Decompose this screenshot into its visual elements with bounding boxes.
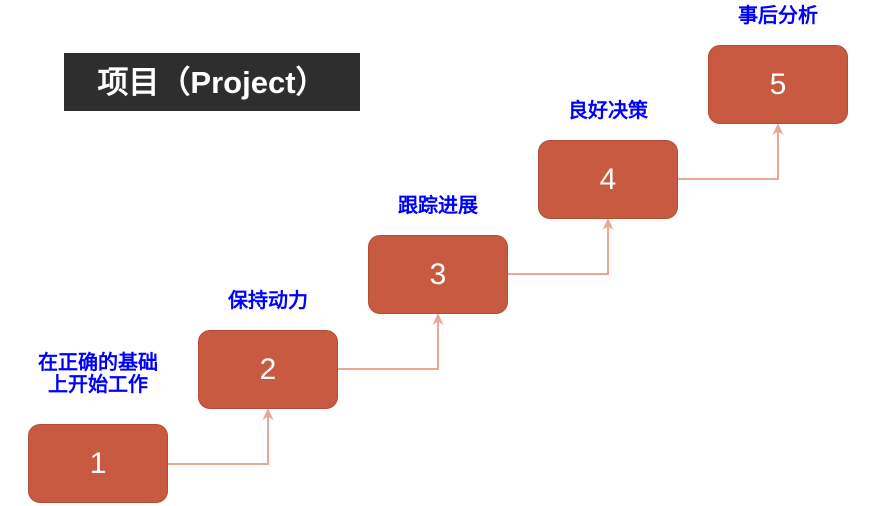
connector-step1-to-step2 — [168, 404, 276, 472]
step-number-1: 1 — [90, 449, 107, 479]
step-label-5: 事后分析 — [708, 5, 848, 27]
connector-step2-to-step3 — [338, 309, 446, 377]
connector-step3-to-step4 — [508, 214, 616, 282]
connector-step4-to-step5 — [678, 119, 786, 187]
step-label-2: 保持动力 — [198, 290, 338, 312]
step-number-3: 3 — [430, 260, 447, 290]
step-box-5[interactable]: 5 — [708, 45, 848, 124]
step-label-1: 在正确的基础 上开始工作 — [6, 352, 190, 397]
page-title-banner: 项目（Project） — [64, 53, 360, 111]
step-box-1[interactable]: 1 — [28, 424, 168, 503]
step-box-2[interactable]: 2 — [198, 330, 338, 409]
page-title: 项目（Project） — [97, 67, 326, 98]
step-label-3: 跟踪进展 — [368, 195, 508, 217]
step-number-2: 2 — [260, 355, 277, 385]
step-number-5: 5 — [770, 70, 787, 100]
slide-canvas: 项目（Project） 在正确的基础 上开始工作 1 保持动力 — [0, 0, 869, 506]
step-box-4[interactable]: 4 — [538, 140, 678, 219]
step-label-4: 良好决策 — [538, 100, 678, 122]
step-box-3[interactable]: 3 — [368, 235, 508, 314]
step-number-4: 4 — [600, 165, 617, 195]
